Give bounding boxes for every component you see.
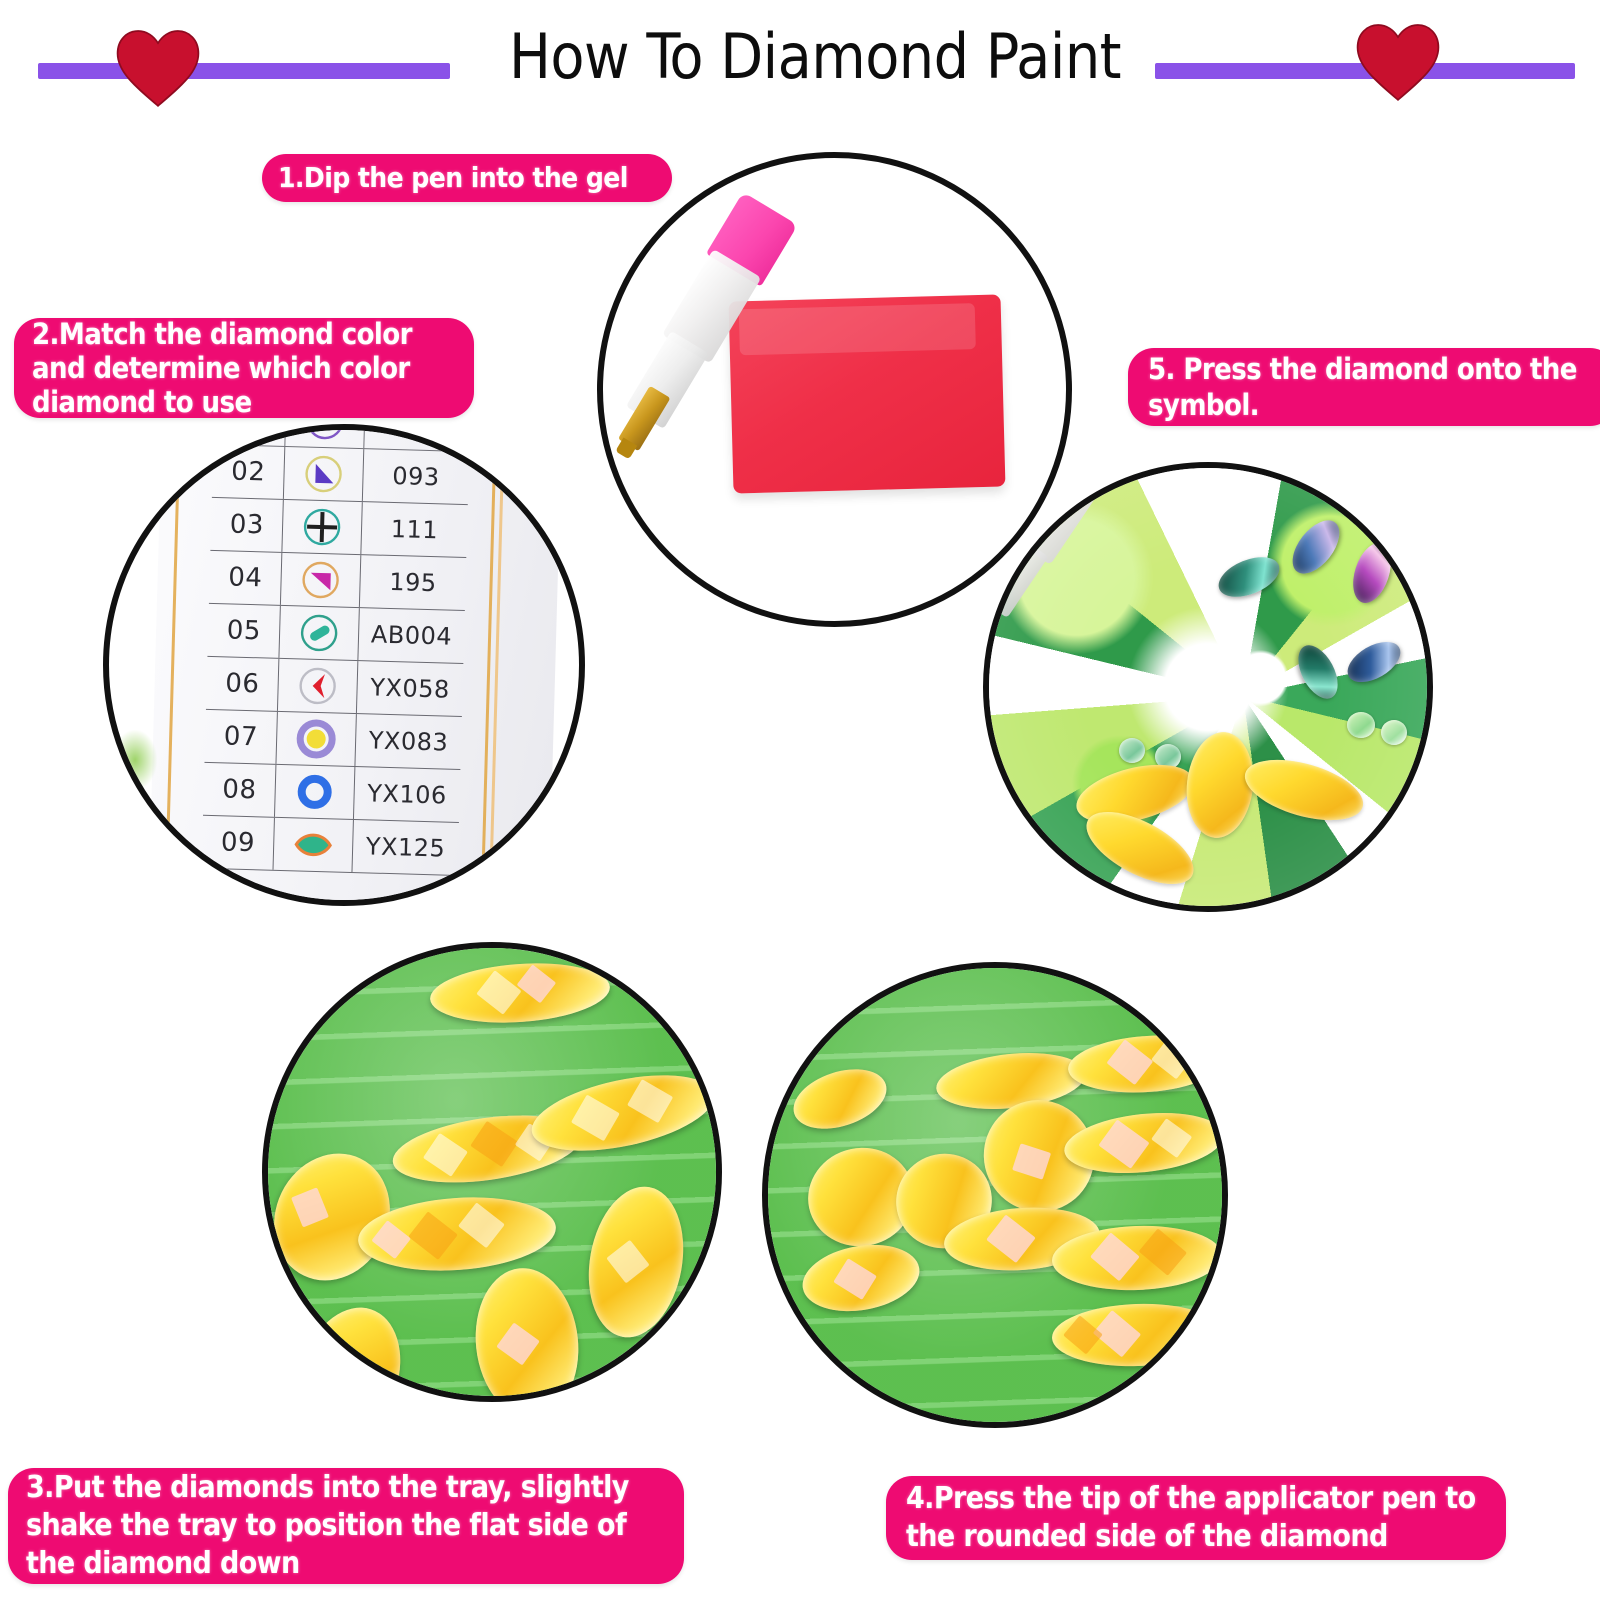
step-3-label-text: 3.Put the diamonds into the tray, slight…: [26, 1469, 666, 1583]
legend-row: 07 YX083: [204, 710, 461, 770]
legend-row: 04 195: [209, 551, 466, 611]
legend-number-cell: 08: [203, 763, 277, 817]
step-5-label: 5. Press the diamond onto the symbol.: [1128, 348, 1600, 426]
chevron-left-red-icon: [278, 659, 358, 713]
legend-code-cell: YX106: [354, 767, 461, 822]
legend-code-cell: YX125: [352, 820, 459, 875]
gem-round-ab-3: [1119, 738, 1145, 763]
ring-blue-icon: [275, 765, 355, 819]
step-5-photo-press-diamond-onto-symbol: [983, 462, 1433, 912]
legend-code-cell: YX058: [357, 661, 464, 716]
legend-row: 09YX125: [202, 816, 459, 876]
legend-row: 02 093: [212, 445, 469, 505]
heart-icon: [115, 28, 201, 108]
symbol-legend-table: 02602 09303 11104 19505 AB00406 YX05807 …: [202, 424, 471, 876]
legend-number-cell: 03: [210, 498, 284, 552]
gem-round-ab-1: [1347, 712, 1375, 738]
legend-code-cell: 093: [363, 449, 470, 504]
step-2-label-text: 2.Match the diamond color and determine …: [32, 317, 456, 419]
legend-number-cell: 06: [206, 657, 280, 711]
legend-row: 03 111: [210, 498, 467, 558]
step-4-label: 4.Press the tip of the applicator pen to…: [886, 1476, 1506, 1560]
legend-code-cell: 111: [361, 502, 468, 557]
legend-code-cell: 026: [364, 424, 471, 451]
header-banner: How To Diamond Paint: [0, 0, 1600, 135]
legend-number-cell: 09: [202, 816, 276, 870]
triangle-magenta-icon: [281, 553, 361, 607]
legend-code-cell: AB004: [358, 608, 465, 663]
legend-row: 06 YX058: [206, 657, 463, 717]
step-2-label: 2.Match the diamond color and determine …: [14, 318, 474, 418]
legend-number-cell: 07: [204, 710, 278, 764]
canvas-sheet: 02602 09303 11104 19505 AB00406 YX05807 …: [148, 424, 562, 906]
leaf-green-icon: [274, 818, 354, 872]
page-title: How To Diamond Paint: [470, 26, 1160, 88]
step-3-photo-diamonds-in-tray: [262, 942, 722, 1402]
legend-code-cell: 195: [360, 555, 467, 610]
step-5-label-text: 5. Press the diamond onto the symbol.: [1148, 351, 1596, 423]
legend-code-cell: YX083: [355, 714, 462, 769]
legend-number-cell: 05: [207, 604, 281, 658]
double-diamond-blue-icon: [286, 424, 366, 448]
plus-cross-icon: [283, 500, 363, 554]
capsule-teal-icon: [280, 606, 360, 660]
canvas-green-print-blur: [113, 730, 157, 790]
step-4-photo-pen-tip-on-diamond: [762, 962, 1228, 1428]
triangle-purple-icon: [284, 447, 364, 501]
legend-number-cell: 04: [209, 551, 283, 605]
step-2-photo-symbol-legend-chart: 02602 09303 11104 19505 AB00406 YX05807 …: [103, 424, 585, 906]
legend-number-cell: [213, 424, 287, 446]
decor-bar-left: [38, 63, 450, 79]
legend-number-cell: 02: [212, 445, 286, 499]
step-3-label: 3.Put the diamonds into the tray, slight…: [8, 1468, 684, 1584]
step-1-label-text: 1.Dip the pen into the gel: [278, 163, 656, 193]
gem-round-ab-2: [1381, 720, 1407, 745]
step-1-label: 1.Dip the pen into the gel: [262, 154, 672, 202]
step-4-label-text: 4.Press the tip of the applicator pen to…: [906, 1480, 1486, 1556]
legend-row: 08YX106: [203, 763, 460, 823]
dot-yellow-ring-icon: [277, 712, 357, 766]
heart-icon: [1355, 22, 1441, 102]
legend-row: 05 AB004: [207, 604, 464, 664]
red-gel-pad: [729, 294, 1006, 493]
